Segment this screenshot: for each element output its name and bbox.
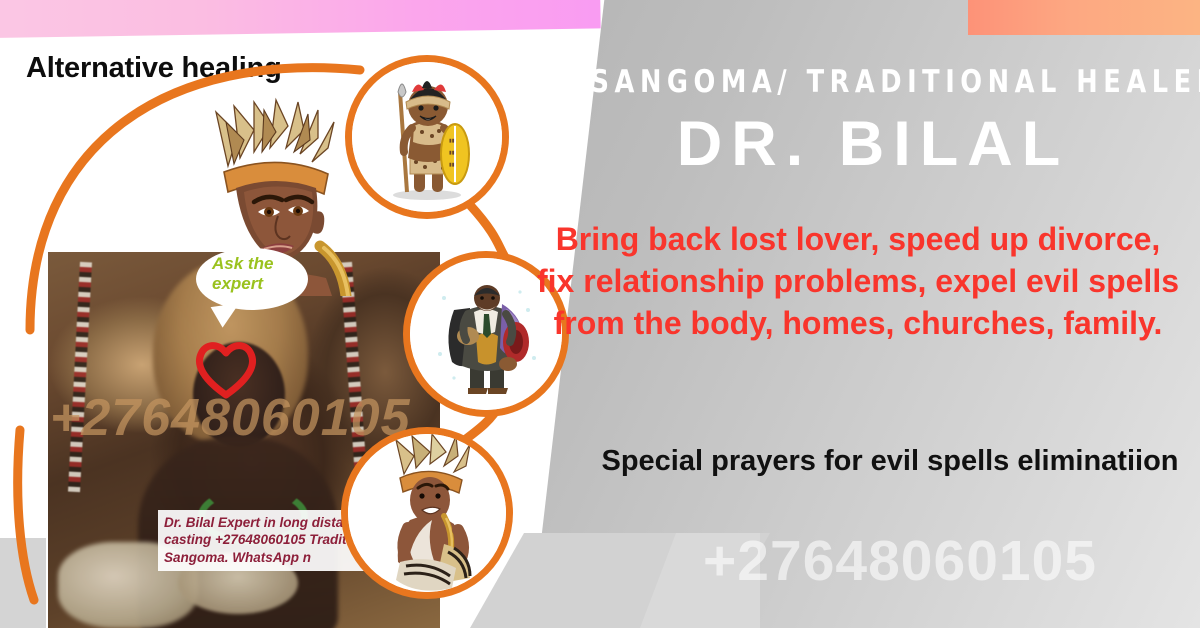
special-prayers-subheadline: Special prayers for evil spells eliminat… bbox=[600, 442, 1180, 481]
ghost-phone-number: +27648060105 bbox=[610, 528, 1190, 594]
bead-strand-left bbox=[68, 262, 92, 492]
orange-top-band bbox=[968, 0, 1200, 35]
pink-top-band bbox=[0, 0, 601, 38]
badge-zulu-warrior-cartoon[interactable]: ▮▮▮▮▮▮ bbox=[352, 62, 502, 212]
doctor-name-heading: DR. BILAL bbox=[566, 108, 1180, 180]
bubble-text: Ask the expert bbox=[212, 254, 304, 293]
svg-text:▮▮: ▮▮ bbox=[449, 138, 455, 144]
badge-crouching-warrior[interactable] bbox=[348, 434, 506, 592]
svg-text:▮▮: ▮▮ bbox=[449, 150, 455, 156]
ask-the-expert-bubble: Ask the expert bbox=[196, 248, 308, 310]
gray-left-strip bbox=[0, 538, 46, 628]
bead-strand-right bbox=[340, 262, 368, 492]
kicker-heading: SANGOMA/ TRADITIONAL HEALER bbox=[591, 64, 1156, 100]
svg-text:▮▮: ▮▮ bbox=[449, 162, 455, 168]
services-paragraph: Bring back lost lover, speed up divorce,… bbox=[534, 218, 1182, 345]
poster-canvas: Alternative healing bbox=[0, 0, 1200, 628]
alternative-healing-heading: Alternative healing bbox=[26, 52, 282, 85]
bubble-tail bbox=[211, 303, 243, 329]
